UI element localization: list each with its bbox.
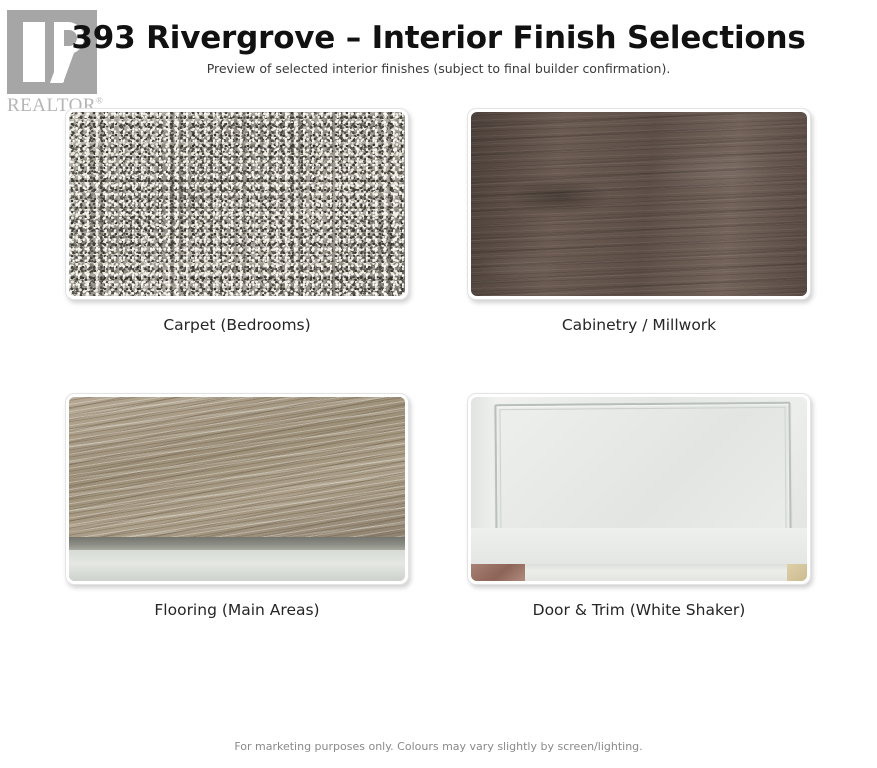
registered-trademark-icon: ® [96,96,103,106]
swatch-card-flooring[interactable]: Flooring (Main Areas) [65,393,409,619]
floor-plank-face [69,397,405,537]
swatch-row-top: Carpet (Bedrooms) Cabinetry / Millwork [0,108,877,393]
swatch-image-door-trim [471,397,807,581]
swatch-frame [65,108,409,300]
swatch-card-cabinetry[interactable]: Cabinetry / Millwork [467,108,811,334]
door-floor-patch-brown [471,564,525,581]
floor-plank-edge [69,537,405,550]
door-floor-patch-tan [787,564,807,581]
door-recessed-panel [494,401,791,536]
swatch-frame [467,108,811,300]
finish-swatch-grid: Carpet (Bedrooms) Cabinetry / Millwork F… [0,108,877,678]
swatch-image-cabinetry [471,112,807,296]
swatch-caption-cabinetry: Cabinetry / Millwork [467,316,811,334]
page-header: REALTOR® 393 Rivergrove – Interior Finis… [0,0,877,108]
door-panel-inner-field [499,406,786,531]
swatch-caption-carpet: Carpet (Bedrooms) [65,316,409,334]
swatch-frame [65,393,409,585]
floor-background-strip [69,550,405,581]
swatch-card-carpet[interactable]: Carpet (Bedrooms) [65,108,409,334]
swatch-caption-flooring: Flooring (Main Areas) [65,601,409,619]
swatch-frame [467,393,811,585]
footer-disclaimer: For marketing purposes only. Colours may… [0,740,877,753]
swatch-image-flooring [69,397,405,581]
swatch-row-bottom: Flooring (Main Areas) Door & Trim (White… [0,393,877,678]
page-title: 393 Rivergrove – Interior Finish Selecti… [0,20,877,56]
door-bottom-rail [471,528,807,565]
swatch-card-door-trim[interactable]: Door & Trim (White Shaker) [467,393,811,619]
swatch-caption-door-trim: Door & Trim (White Shaker) [467,601,811,619]
swatch-image-carpet [69,112,405,296]
page-subtitle: Preview of selected interior finishes (s… [0,61,877,76]
